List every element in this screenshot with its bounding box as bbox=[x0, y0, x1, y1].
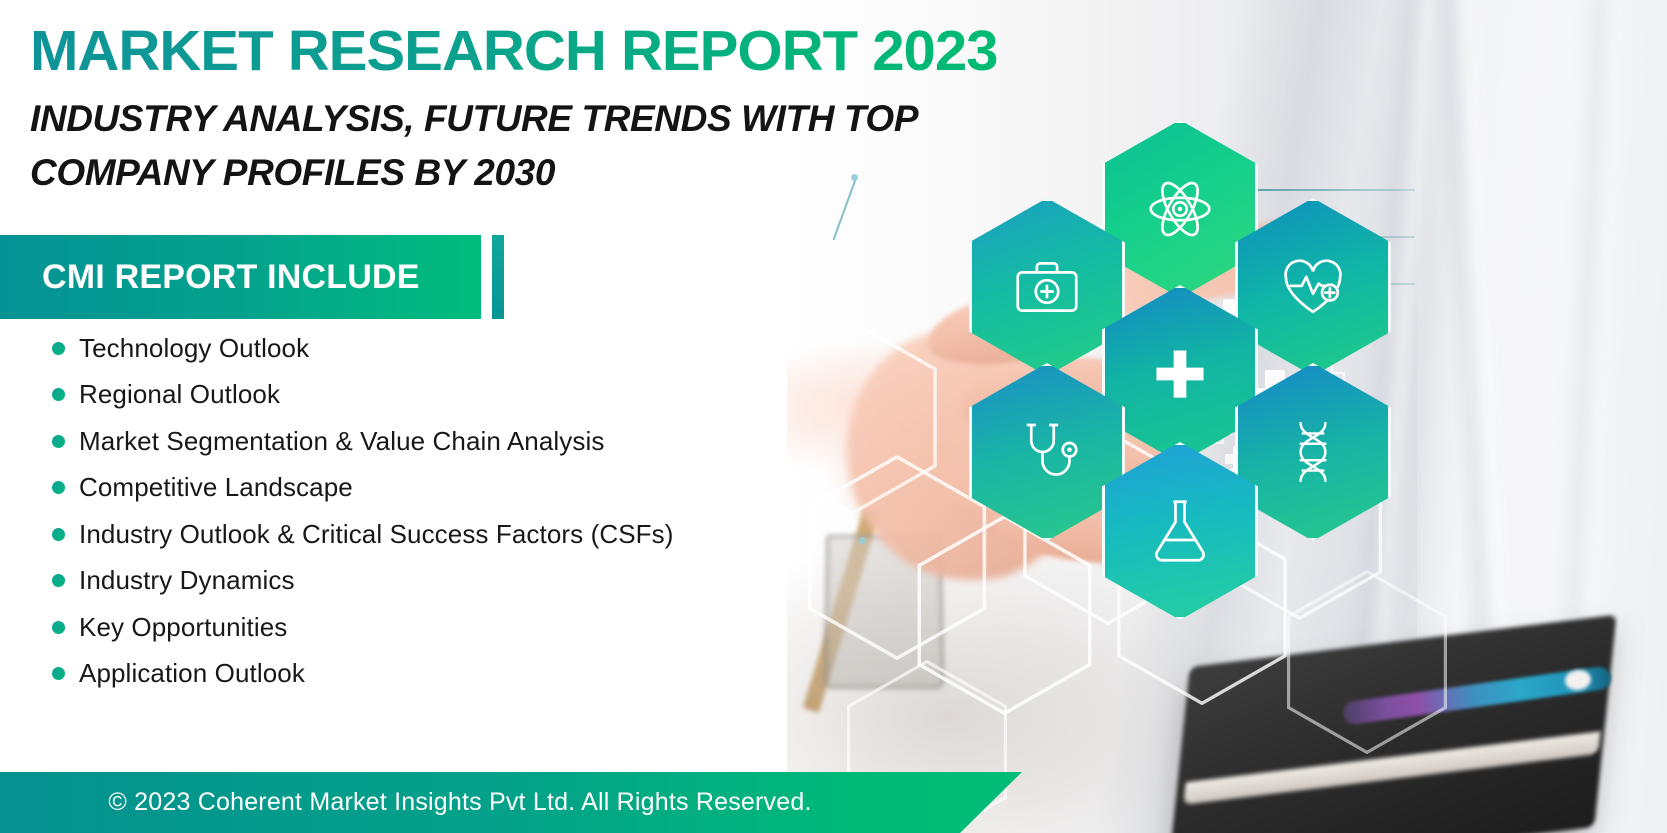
list-item-label: Industry Dynamics bbox=[79, 565, 295, 596]
hexagon-medical-cross[interactable] bbox=[1102, 285, 1258, 463]
list-item: Market Segmentation & Value Chain Analys… bbox=[52, 418, 673, 465]
bullet-dot-icon bbox=[52, 481, 65, 494]
bullet-dot-icon bbox=[52, 342, 65, 355]
flask-icon bbox=[1144, 495, 1216, 567]
hexagon-dna[interactable] bbox=[1235, 363, 1391, 541]
list-item-label: Market Segmentation & Value Chain Analys… bbox=[79, 426, 604, 457]
bullet-dot-icon bbox=[52, 528, 65, 541]
hexagon-atom[interactable] bbox=[1102, 120, 1258, 298]
badge-label: CMI REPORT INCLUDE bbox=[0, 258, 420, 297]
medical-cross-icon bbox=[1151, 345, 1209, 403]
list-item-label: Regional Outlook bbox=[79, 379, 280, 410]
badge-accent-bar bbox=[492, 235, 504, 319]
list-item: Competitive Landscape bbox=[52, 465, 673, 512]
bullet-dot-icon bbox=[52, 574, 65, 587]
heart-pulse-icon bbox=[1277, 251, 1349, 323]
page-subtitle: INDUSTRY ANALYSIS, FUTURE TRENDS WITH TO… bbox=[30, 92, 1020, 201]
list-item: Key Opportunities bbox=[52, 604, 673, 651]
list-item-label: Industry Outlook & Critical Success Fact… bbox=[79, 519, 673, 550]
hexagon-heart-pulse[interactable] bbox=[1235, 198, 1391, 376]
list-item: Regional Outlook bbox=[52, 372, 673, 419]
bullet-dot-icon bbox=[52, 388, 65, 401]
page-title: MARKET RESEARCH REPORT 2023 bbox=[30, 22, 997, 80]
list-item-label: Application Outlook bbox=[79, 658, 305, 689]
dna-icon bbox=[1287, 419, 1339, 485]
list-item-label: Key Opportunities bbox=[79, 612, 287, 643]
report-include-list: Technology Outlook Regional Outlook Mark… bbox=[52, 325, 673, 697]
list-item-label: Competitive Landscape bbox=[79, 472, 353, 503]
list-item-label: Technology Outlook bbox=[79, 333, 309, 364]
content-column: MARKET RESEARCH REPORT 2023 INDUSTRY ANA… bbox=[0, 0, 1060, 833]
bullet-dot-icon bbox=[52, 621, 65, 634]
hexagon-outline-icon bbox=[1287, 570, 1447, 754]
market-research-report-banner: MARKET RESEARCH REPORT 2023 INDUSTRY ANA… bbox=[0, 0, 1667, 833]
list-item: Industry Outlook & Critical Success Fact… bbox=[52, 511, 673, 558]
badge-bar: CMI REPORT INCLUDE bbox=[0, 235, 481, 319]
atom-icon bbox=[1144, 173, 1216, 245]
footer-bar: © 2023 Coherent Market Insights Pvt Ltd.… bbox=[0, 772, 1130, 833]
bullet-dot-icon bbox=[52, 667, 65, 680]
list-item: Application Outlook bbox=[52, 651, 673, 698]
copyright-text: © 2023 Coherent Market Insights Pvt Ltd.… bbox=[0, 772, 920, 833]
bullet-dot-icon bbox=[52, 435, 65, 448]
list-item: Technology Outlook bbox=[52, 325, 673, 372]
list-item: Industry Dynamics bbox=[52, 558, 673, 605]
